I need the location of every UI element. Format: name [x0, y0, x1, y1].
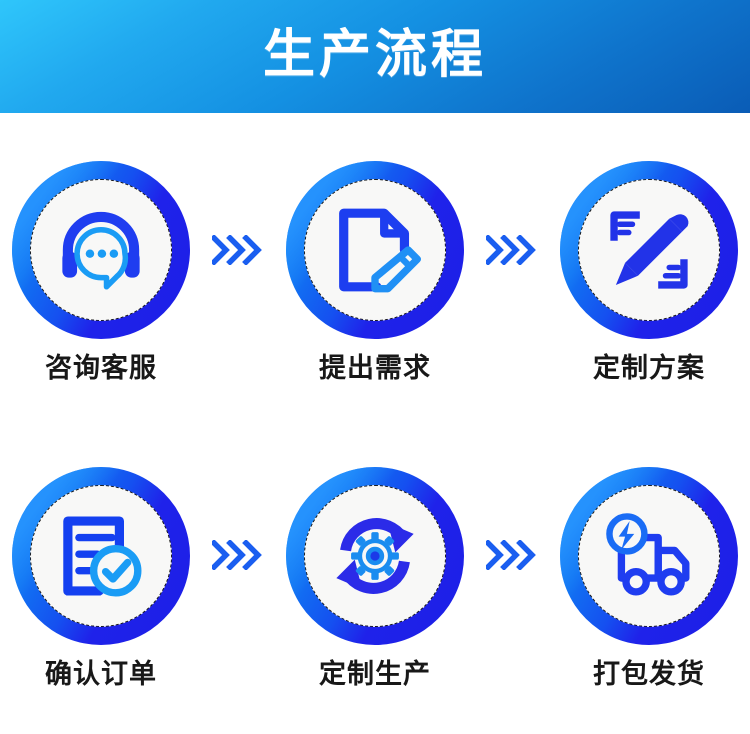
step-circle-inner: [304, 485, 446, 627]
process-flow-diagram: 咨询客服: [0, 113, 750, 734]
triple-chevron-right-icon: [486, 540, 538, 570]
flow-step-label: 定制方案: [593, 355, 705, 382]
step-circle-inner: [30, 485, 172, 627]
flow-step-label: 确认订单: [45, 661, 157, 688]
step-circle-inner: [578, 485, 720, 627]
step-circle-badge: [12, 467, 190, 645]
step-circle-badge: [560, 467, 738, 645]
step-circle-inner: [304, 179, 446, 321]
flow-step-label: 打包发货: [593, 661, 705, 688]
flow-step-custom-production[interactable]: 定制生产: [276, 467, 474, 688]
step-circle-badge: [560, 161, 738, 339]
flow-step-label: 咨询客服: [45, 355, 157, 382]
page-title: 生产流程: [263, 29, 487, 81]
flow-step-pack-and-ship[interactable]: 打包发货: [550, 467, 748, 688]
triple-chevron-right-icon: [486, 235, 538, 265]
document-pencil-icon: [329, 204, 421, 296]
clipboard-check-icon: [55, 510, 147, 602]
step-circle-badge: [286, 161, 464, 339]
page-header-banner: 生产流程: [0, 0, 750, 113]
step-circle-badge: [12, 161, 190, 339]
step-circle-inner: [578, 179, 720, 321]
flow-step-custom-plan[interactable]: 定制方案: [550, 161, 748, 382]
cycle-gear-icon: [329, 510, 421, 602]
flow-step-submit-requirements[interactable]: 提出需求: [276, 161, 474, 382]
delivery-truck-bolt-icon: [603, 510, 695, 602]
triple-chevron-right-icon: [212, 235, 264, 265]
flow-step-label: 提出需求: [319, 355, 431, 382]
flow-step-consult-service[interactable]: 咨询客服: [2, 161, 200, 382]
pencil-ruler-icon: [603, 204, 695, 296]
triple-chevron-right-icon: [212, 540, 264, 570]
flow-connector-4: [474, 466, 550, 644]
flow-connector-1: [200, 161, 276, 339]
step-circle-badge: [286, 467, 464, 645]
flow-row-top: 咨询客服: [0, 113, 750, 425]
flow-step-confirm-order[interactable]: 确认订单: [2, 467, 200, 688]
flow-connector-2: [474, 161, 550, 339]
headset-chat-icon: [55, 204, 147, 296]
flow-row-bottom: 确认订单: [0, 425, 750, 734]
step-circle-inner: [30, 179, 172, 321]
flow-connector-3: [200, 466, 276, 644]
flow-step-label: 定制生产: [319, 661, 431, 688]
